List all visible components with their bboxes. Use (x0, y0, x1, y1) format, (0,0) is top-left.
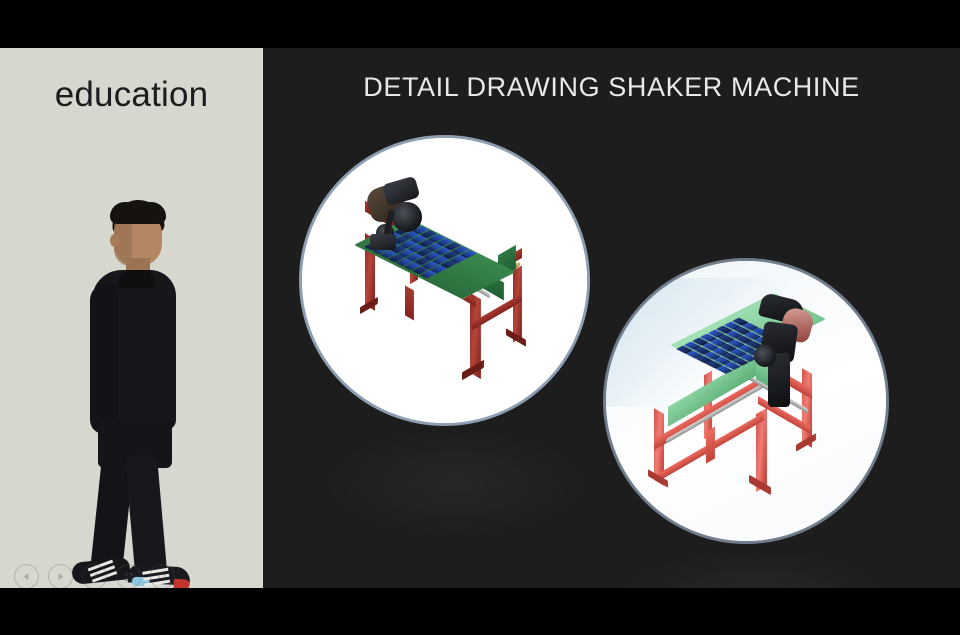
photo-shadow-2 (615, 548, 895, 588)
render-background-2 (606, 261, 886, 541)
next-slide-icon[interactable] (48, 564, 73, 588)
slide-main: DETAIL DRAWING SHAKER MACHINE (263, 48, 960, 588)
presenter-arm (90, 284, 118, 434)
letterbox-top (0, 0, 960, 48)
presenter-panel: education (0, 48, 263, 588)
education-label: education (0, 75, 263, 115)
all-slides-icon[interactable] (116, 564, 141, 588)
motor-body (382, 176, 421, 207)
motor-assembly-2 (746, 297, 836, 397)
frame2-crossbar (706, 426, 715, 463)
pen-annotation-icon[interactable] (82, 564, 107, 588)
presenter-leg-front (125, 453, 167, 575)
presentation-screen: education (0, 0, 960, 635)
machine-assembly-2 (606, 261, 886, 541)
machine-assembly-1 (302, 138, 587, 423)
render-background-1 (302, 138, 587, 423)
slide-canvas: education (0, 48, 960, 588)
presenter-ear (110, 234, 119, 247)
slide-title: DETAIL DRAWING SHAKER MACHINE (263, 72, 960, 103)
motor-mount (370, 234, 396, 250)
zoom-icon[interactable] (150, 564, 175, 588)
motor2-pulley (754, 345, 776, 367)
previous-slide-icon[interactable] (14, 564, 39, 588)
motor-pulley-large (392, 202, 422, 232)
letterbox-bottom (0, 588, 960, 635)
presenter-collar (118, 270, 156, 288)
motor-assembly (362, 180, 442, 260)
shaker-machine-render-dark[interactable] (299, 135, 590, 426)
shaker-machine-render-light[interactable] (603, 258, 889, 544)
photo-shadow-1 (321, 428, 591, 538)
slide-controls[interactable] (14, 564, 175, 588)
presenter-fringe (110, 202, 166, 224)
frame-crossbar (405, 285, 414, 320)
presenter-figure (52, 188, 212, 588)
